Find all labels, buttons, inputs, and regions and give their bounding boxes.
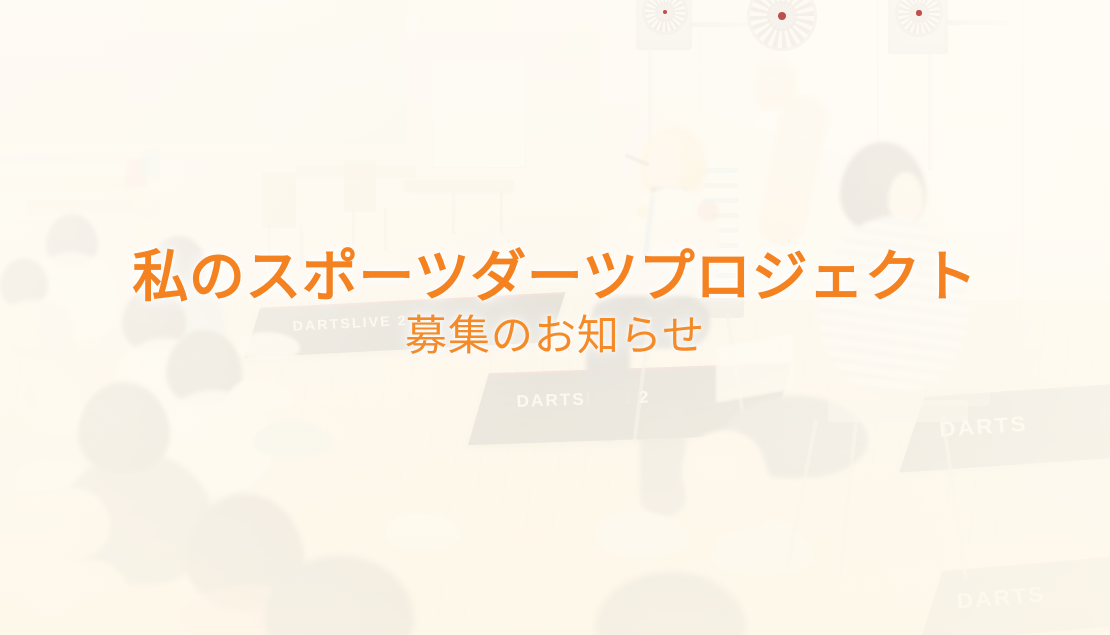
hero-banner: DARTSLIVE 2 DARTSLIVE 2 DARTS DARTS xyxy=(0,0,1110,635)
child-shoe xyxy=(28,400,98,434)
classroom-desk xyxy=(404,180,514,191)
chalkboard xyxy=(0,0,406,152)
raised-arm xyxy=(755,93,831,249)
dartboard-arm-left xyxy=(690,22,754,27)
child-leg xyxy=(21,358,120,424)
desk-leg xyxy=(452,190,455,234)
child-head-front xyxy=(186,494,304,610)
dartboard-cabinet-left xyxy=(636,0,692,50)
darts-mat-bottom-right: DARTS xyxy=(920,549,1110,635)
headset-mic-icon xyxy=(624,153,650,166)
desk-leg xyxy=(500,190,503,234)
presenter-face xyxy=(645,146,681,190)
child-leg xyxy=(0,560,130,635)
child-shoe xyxy=(14,460,92,496)
page-title: 私のスポーツダーツプロジェクト xyxy=(0,248,1110,307)
participant-shoe xyxy=(598,512,690,558)
chalkboard-rail xyxy=(0,150,416,162)
desk-object-red xyxy=(126,158,148,188)
darts-mat-center: DARTSLIVE 2 xyxy=(468,363,792,445)
headline-block: 私のスポーツダーツプロジェクト 募集のお知らせ xyxy=(0,248,1110,360)
participant-shorts xyxy=(722,396,868,478)
presenter-shin-2 xyxy=(640,398,686,518)
participant-hair xyxy=(840,142,926,234)
child-shoe-green xyxy=(252,422,332,458)
child-head xyxy=(78,382,170,474)
child-head-front xyxy=(596,572,746,635)
chair-leg xyxy=(384,208,387,250)
classroom-desk xyxy=(296,166,416,176)
participant-shoe xyxy=(712,528,814,576)
child-shirt-pink xyxy=(178,586,328,635)
dartboard-right-icon xyxy=(898,0,940,34)
raised-hand xyxy=(757,62,795,108)
child-head-front xyxy=(264,556,414,635)
presenter-shoe xyxy=(716,518,802,560)
classroom-desk xyxy=(0,176,130,187)
uniform-badge xyxy=(636,204,650,218)
dartboard-stand-right xyxy=(928,52,933,170)
child-raised-hand xyxy=(131,192,159,218)
dartboard-cabinet-right xyxy=(888,0,948,54)
presenter-shoe xyxy=(596,512,674,552)
classroom-chair xyxy=(344,160,376,212)
presenter-collar xyxy=(651,188,687,214)
darts-mat-right: DARTS xyxy=(899,379,1110,472)
child-leg xyxy=(0,484,113,567)
classroom-chair xyxy=(262,172,296,228)
dartboard-left-icon xyxy=(645,0,685,32)
whiteboard xyxy=(432,58,526,168)
dartboard-center-icon xyxy=(750,0,814,48)
child-shoe xyxy=(228,380,294,410)
dartboard-stand-left xyxy=(648,48,653,156)
child-body-dark xyxy=(60,452,214,586)
chair-leg xyxy=(352,208,355,250)
uniform-patch xyxy=(697,200,719,222)
page-subtitle: 募集のお知らせ xyxy=(0,313,1110,359)
presenter-hair xyxy=(640,126,706,200)
child-shoe xyxy=(386,512,462,550)
classroom-desk xyxy=(28,200,158,211)
dartboard-arm-right xyxy=(946,20,1008,25)
participant-face xyxy=(888,172,924,224)
desk-object-blue xyxy=(140,150,160,178)
participant-leg xyxy=(672,421,783,550)
child-body xyxy=(154,390,274,494)
